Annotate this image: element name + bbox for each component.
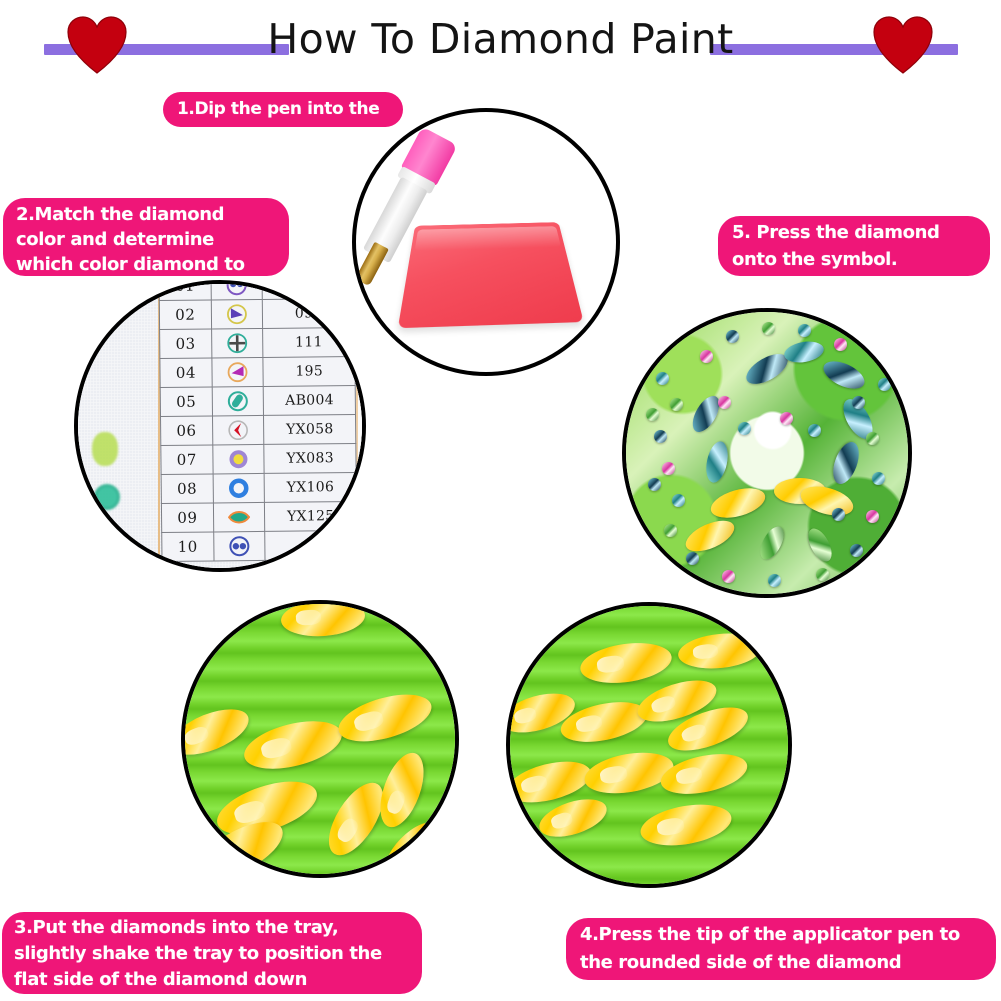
legend-dmc-code: 111 [263,327,355,357]
legend-symbol-leaf-marquise [213,502,265,532]
step-label-5: 5. Press the diamond onto the symbol. [718,216,990,276]
canvas-rhinestone [664,524,677,537]
step-photo-3 [181,600,459,878]
legend-dmc-code: YX125 [265,501,357,531]
canvas-rhinestone [780,412,793,425]
canvas-rhinestone [726,330,739,343]
canvas-rhinestone [866,510,879,523]
canvas-rhinestone [866,562,879,575]
legend-symbol-filled-dot-in-ring [213,444,265,474]
canvas-rhinestone [656,372,669,385]
gel-pad [398,222,584,328]
canvas-rhinestone [718,396,731,409]
canvas-rhinestone [850,544,863,557]
canvas-rhinestone [834,338,847,351]
canvas-rhinestone [872,472,885,485]
canvas-rhinestone [686,552,699,565]
canvas-rhinestone [852,396,865,409]
legend-symbol-plus-cross [211,328,263,358]
legend-row: 05 AB004 [160,385,355,416]
canvas-margin-right [358,284,362,568]
canvas-rhinestone [768,574,781,587]
canvas-rhinestone [762,322,775,335]
legend-symbol-double-dot-circle [211,280,263,300]
canvas-rhinestone [738,422,751,435]
canvas-rhinestone [816,568,829,581]
step-label-4: 4.Press the tip of the applicator pen to… [566,918,996,980]
legend-code: 09 [161,503,213,533]
canvas-rhinestone [878,378,891,391]
legend-code: 03 [160,329,212,359]
legend-symbol-open-ring [213,473,265,503]
legend-symbol-dot-cluster [213,531,265,561]
page-title: How To Diamond Paint [0,16,1001,62]
legend-row: 04 195 [160,356,355,387]
legend-row: 08YX106 [161,472,356,503]
legend-code: 05 [160,387,212,417]
canvas-teal-symbol [94,484,120,510]
canvas-rhinestone [722,570,735,583]
header: How To Diamond Paint [0,0,1001,90]
legend-symbol-triangle-left [212,357,264,387]
legend-code: 07 [161,445,213,475]
canvas-rhinestone [798,324,811,337]
legend-code: 01 [159,280,211,301]
legend-code: 04 [160,358,212,388]
legend-row: 03 111 [160,327,355,358]
canvas-rhinestone [662,462,675,475]
legend-code: 08 [161,474,213,504]
legend-row: 10 [162,530,357,561]
step-photo-5 [622,308,912,598]
legend-row: 09YX125 [161,501,356,532]
step-photo-1 [352,108,620,376]
canvas-green-smudge [92,432,118,466]
legend-code: 06 [161,416,213,446]
canvas-rhinestone [832,508,845,521]
infographic-canvas: How To Diamond Paint 1.Dip the pen into … [0,0,1001,1001]
legend-code: 02 [159,300,211,330]
legend-symbol-chevron-left [212,415,264,445]
legend-symbol-diagonal-capsule [212,386,264,416]
legend-dmc-code: YX083 [264,443,356,473]
step-label-2: 2.Match the diamond color and determine … [3,198,289,276]
legend-row: 06 YX058 [161,414,356,445]
step-label-3: 3.Put the diamonds into the tray, slight… [2,912,422,994]
legend-row: 07YX083 [161,443,356,474]
legend-dmc-code: 020 [262,280,354,299]
legend-dmc-code: 093 [263,298,355,328]
canvas-rhinestone [808,424,821,437]
legend-symbol-triangle-right [211,299,263,329]
pen-tip [355,242,389,287]
legend-code: 10 [162,532,214,562]
step-photo-2: 01 02002 09303 11104 19505 AB00406 YX058… [74,280,366,572]
legend-dmc-code: AB004 [264,385,356,415]
canvas-rhinestone [866,432,879,445]
canvas-rhinestone [700,350,713,363]
legend-row: 01 020 [159,280,354,301]
legend-dmc-code: 195 [263,356,355,386]
legend-dmc-code: YX058 [264,414,356,444]
step-photo-4 [506,602,792,888]
canvas-rhinestone [672,494,685,507]
canvas-rhinestone [670,398,683,411]
legend-row: 02 093 [159,298,354,329]
canvas-rhinestone [646,408,659,421]
symbol-legend-table: 01 02002 09303 11104 19505 AB00406 YX058… [158,280,357,562]
canvas-rhinestone [654,430,667,443]
legend-dmc-code [265,530,357,560]
legend-dmc-code: YX106 [265,472,357,502]
canvas-rhinestone [648,478,661,491]
